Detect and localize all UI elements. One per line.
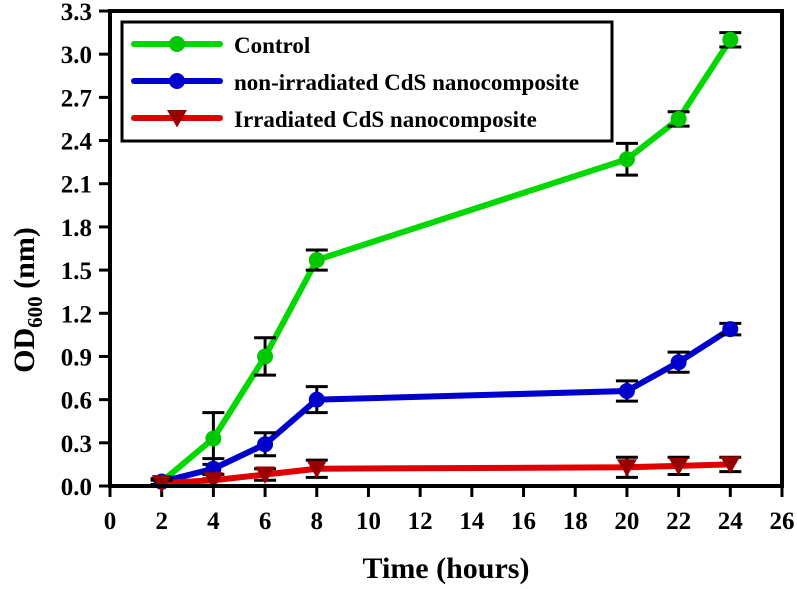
- y-tick-label: 1.5: [61, 258, 92, 285]
- data-point: [671, 111, 687, 127]
- y-tick-label: 2.7: [61, 85, 92, 112]
- legend-label: non-irradiated CdS nanocomposite: [234, 70, 579, 95]
- y-tick-label: 1.8: [61, 215, 92, 242]
- x-tick-label: 24: [718, 508, 744, 535]
- data-point: [257, 348, 273, 364]
- y-tick-label: 0.6: [61, 388, 92, 415]
- data-point: [619, 151, 635, 167]
- y-tick-label: 1.2: [61, 301, 92, 328]
- y-axis-title-unit: (nm): [8, 227, 41, 296]
- y-tick-label: 3.0: [61, 42, 92, 69]
- x-tick-label: 26: [770, 508, 795, 535]
- legend-swatch-marker: [169, 73, 185, 89]
- legend-label: Control: [234, 33, 310, 58]
- y-axis-title-subscript: 600: [23, 296, 47, 328]
- data-point: [257, 436, 273, 452]
- x-axis-title: Time (hours): [363, 552, 530, 585]
- y-tick-label: 2.4: [61, 129, 93, 156]
- y-tick-label: 2.1: [61, 172, 92, 199]
- x-tick-label: 8: [311, 508, 324, 535]
- data-point: [722, 32, 738, 48]
- y-tick-label: 0.3: [61, 431, 92, 458]
- data-point: [205, 431, 221, 447]
- y-axis-title-main: OD: [8, 328, 41, 373]
- y-tick-label: 0.9: [61, 344, 92, 371]
- data-point: [309, 392, 325, 408]
- x-tick-label: 2: [155, 508, 168, 535]
- data-point: [671, 354, 687, 370]
- legend[interactable]: Controlnon-irradiated CdS nanocompositeI…: [122, 22, 612, 141]
- data-point: [619, 383, 635, 399]
- x-tick-label: 18: [563, 508, 588, 535]
- x-tick-label: 22: [666, 508, 691, 535]
- data-point: [309, 252, 325, 268]
- x-tick-label: 12: [408, 508, 433, 535]
- y-tick-label: 3.3: [61, 0, 92, 26]
- legend-swatch-marker: [169, 36, 185, 52]
- x-tick-label: 16: [511, 508, 536, 535]
- x-tick-label: 14: [459, 508, 485, 535]
- figure-container: 0.00.30.60.91.21.51.82.12.42.73.03.30246…: [0, 0, 797, 589]
- x-tick-label: 10: [356, 508, 381, 535]
- x-tick-label: 0: [104, 508, 117, 535]
- x-tick-label: 6: [259, 508, 272, 535]
- data-point: [722, 321, 738, 337]
- legend-label: Irradiated CdS nanocomposite: [234, 107, 537, 132]
- x-tick-label: 4: [207, 508, 220, 535]
- line-chart: 0.00.30.60.91.21.51.82.12.42.73.03.30246…: [0, 0, 797, 589]
- y-tick-label: 0.0: [61, 474, 92, 501]
- x-tick-label: 20: [614, 508, 639, 535]
